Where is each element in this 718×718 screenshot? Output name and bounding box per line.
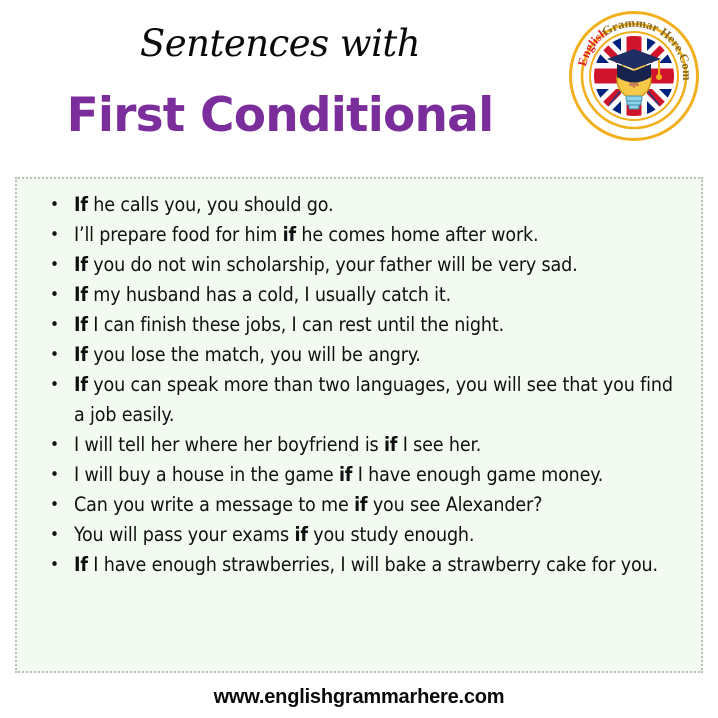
sentence-post: my husband has a cold, I usually catch i… <box>88 283 451 306</box>
sentence-pre: I will buy a house in the game <box>74 463 339 486</box>
sentence-pre: You will pass your exams <box>74 523 294 546</box>
sentences-panel: If he calls you, you should go. I’ll pre… <box>15 177 703 673</box>
site-url[interactable]: www.englishgrammarhere.com <box>214 686 505 709</box>
sentence-post: I have enough strawberries, I will bake … <box>88 553 658 576</box>
sentence-keyword: If <box>74 313 88 336</box>
list-item: I’ll prepare food for him if he comes ho… <box>31 220 687 250</box>
list-item: If I can finish these jobs, I can rest u… <box>31 310 687 340</box>
sentence-keyword: If <box>74 193 88 216</box>
sentence-keyword: if <box>283 223 296 246</box>
list-item: If you do not win scholarship, your fath… <box>31 250 687 280</box>
sentence-keyword: If <box>74 283 88 306</box>
sentence-post: you study enough. <box>308 523 475 546</box>
list-item: If you can speak more than two languages… <box>31 370 687 430</box>
sentence-post: you see Alexander? <box>367 493 542 516</box>
sentence-pre: I will tell her where her boyfriend is <box>74 433 384 456</box>
sentence-keyword: If <box>74 373 88 396</box>
sentence-post: I can finish these jobs, I can rest unti… <box>88 313 504 336</box>
sentence-keyword: If <box>74 253 88 276</box>
sentence-list: If he calls you, you should go. I’ll pre… <box>31 190 687 580</box>
poster-footer: www.englishgrammarhere.com <box>0 676 718 718</box>
sentence-keyword: if <box>294 523 307 546</box>
sentence-keyword: If <box>74 343 88 366</box>
sentence-keyword: if <box>354 493 367 516</box>
sentence-pre: I’ll prepare food for him <box>74 223 283 246</box>
list-item: I will tell her where her boyfriend is i… <box>31 430 687 460</box>
page-title: First Conditional <box>0 88 560 143</box>
sentence-pre: Can you write a message to me <box>74 493 354 516</box>
sentence-keyword: if <box>384 433 397 456</box>
site-logo: English Grammar Here.Com <box>567 9 701 143</box>
list-item: If my husband has a cold, I usually catc… <box>31 280 687 310</box>
sentence-post: he calls you, you should go. <box>88 193 334 216</box>
sentence-keyword: If <box>74 553 88 576</box>
sentence-post: you can speak more than two languages, y… <box>74 373 673 426</box>
sentence-keyword: if <box>339 463 352 486</box>
list-item: You will pass your exams if you study en… <box>31 520 687 550</box>
list-item: Can you write a message to me if you see… <box>31 490 687 520</box>
poster-root: Sentences with First Conditional En <box>0 0 718 718</box>
sentence-post: I have enough game money. <box>352 463 603 486</box>
sentence-post: you lose the match, you will be angry. <box>88 343 421 366</box>
list-item: If you lose the match, you will be angry… <box>31 340 687 370</box>
poster-header: Sentences with First Conditional En <box>0 0 718 177</box>
list-item: If I have enough strawberries, I will ba… <box>31 550 687 580</box>
list-item: If he calls you, you should go. <box>31 190 687 220</box>
sentence-post: I see her. <box>397 433 481 456</box>
list-item: I will buy a house in the game if I have… <box>31 460 687 490</box>
title-subtitle-sentences-with: Sentences with <box>0 22 560 65</box>
sentence-post: you do not win scholarship, your father … <box>88 253 578 276</box>
sentence-post: he comes home after work. <box>296 223 539 246</box>
